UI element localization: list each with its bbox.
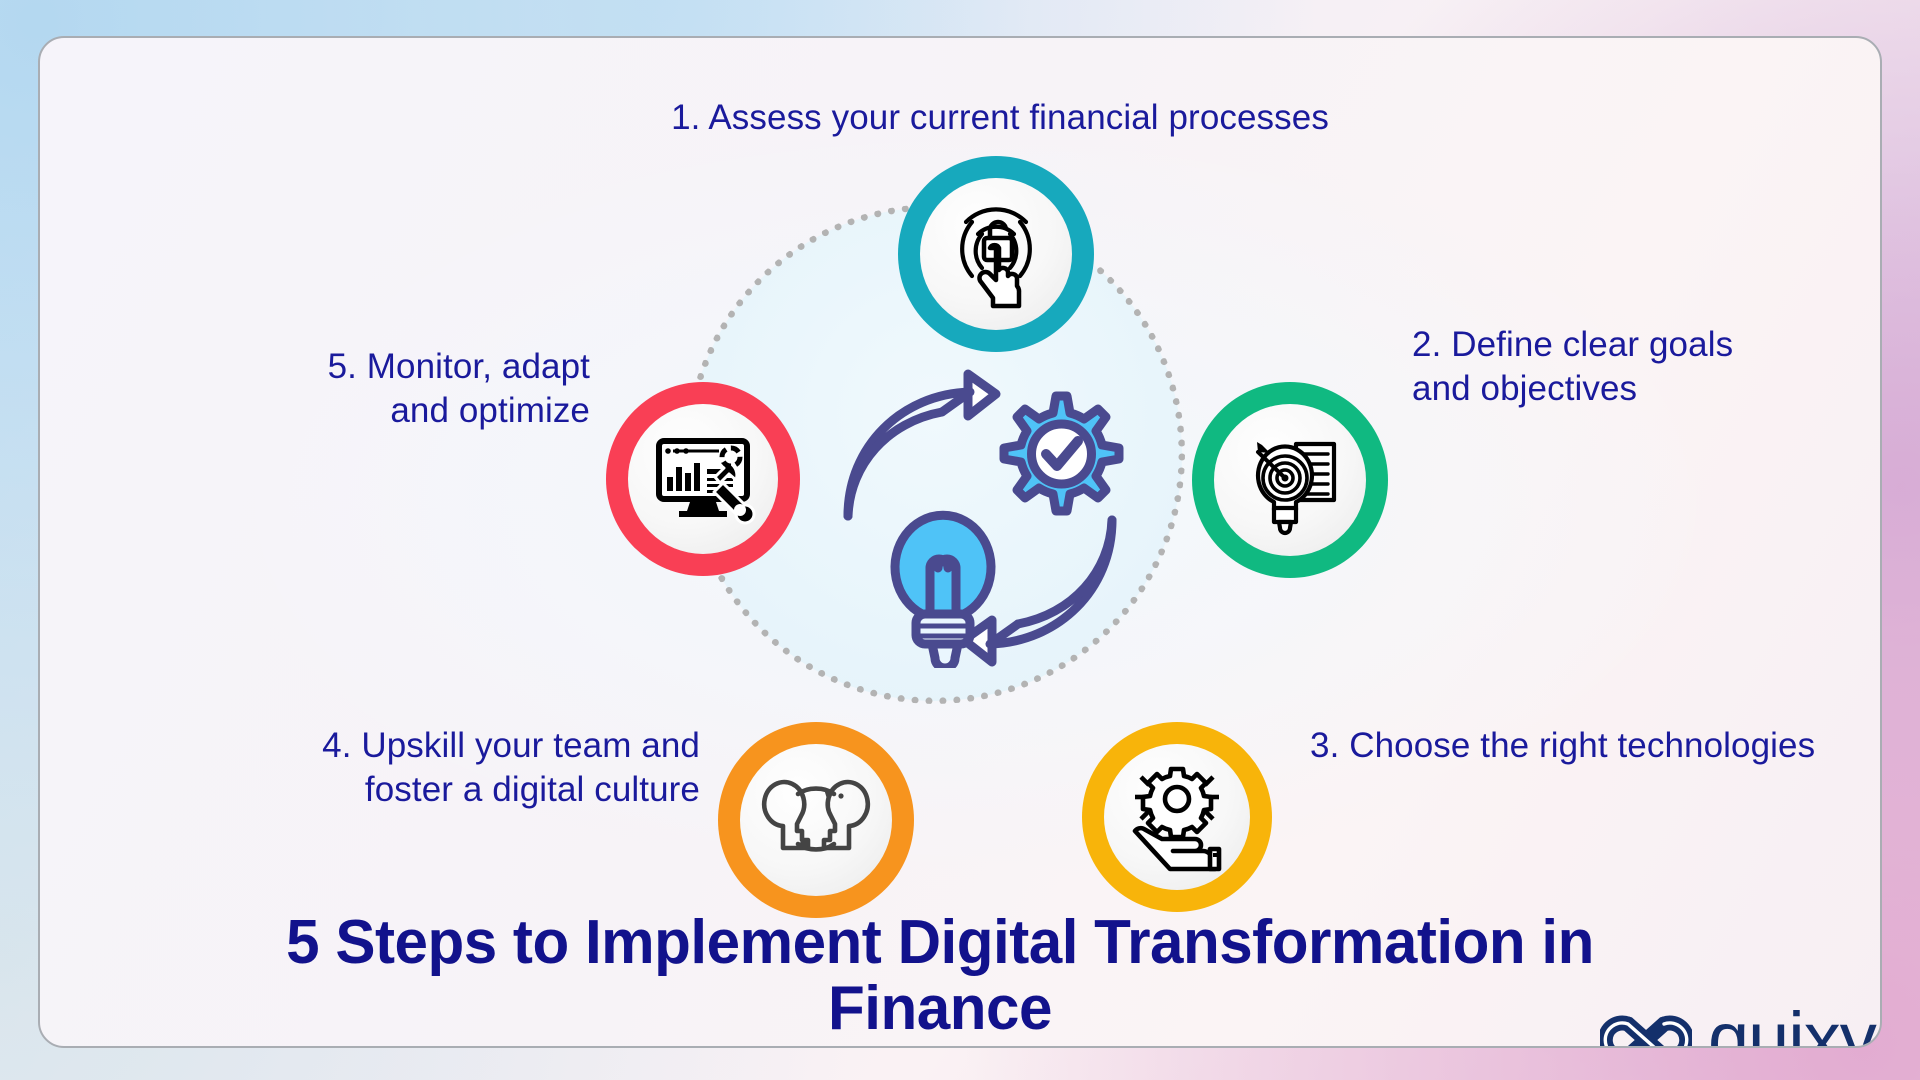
infinity-loop-icon: [1600, 1010, 1692, 1048]
step-label-1: 1. Assess your current financial process…: [600, 96, 1400, 140]
step-icon-bg-3: [1104, 744, 1250, 890]
step-node-1[interactable]: [898, 156, 1094, 352]
target-bulb-document-icon: [1230, 420, 1350, 540]
step-node-4[interactable]: [718, 722, 914, 918]
innovation-cycle-icon: [830, 368, 1130, 668]
step-label-3: 3. Choose the right technologies: [1310, 724, 1850, 768]
hand-holding-gear-icon: [1117, 757, 1237, 877]
quixy-wordmark: quixy: [1708, 1006, 1876, 1048]
step-icon-bg-4: [740, 744, 892, 896]
step-label-2: 2. Define clear goals and objectives: [1412, 323, 1852, 412]
two-heads-exchange-icon: [756, 760, 876, 880]
step-node-2[interactable]: [1192, 382, 1388, 578]
step-node-3[interactable]: [1082, 722, 1272, 912]
quixy-logo[interactable]: quixy: [1600, 1006, 1876, 1048]
monitor-chart-wrench-icon: [643, 419, 763, 539]
infographic-card: 1. Assess your current financial process…: [38, 36, 1882, 1048]
step-icon-bg-1: [920, 178, 1072, 330]
step-label-4: 4. Upskill your team and foster a digita…: [220, 724, 700, 813]
step-icon-bg-2: [1214, 404, 1366, 556]
step-node-5[interactable]: [606, 382, 800, 576]
step-icon-bg-5: [628, 404, 778, 554]
step-label-5: 5. Monitor, adapt and optimize: [190, 345, 590, 434]
hand-tap-lock-icon: [936, 194, 1056, 314]
page-title: 5 Steps to Implement Digital Transformat…: [183, 910, 1696, 1043]
